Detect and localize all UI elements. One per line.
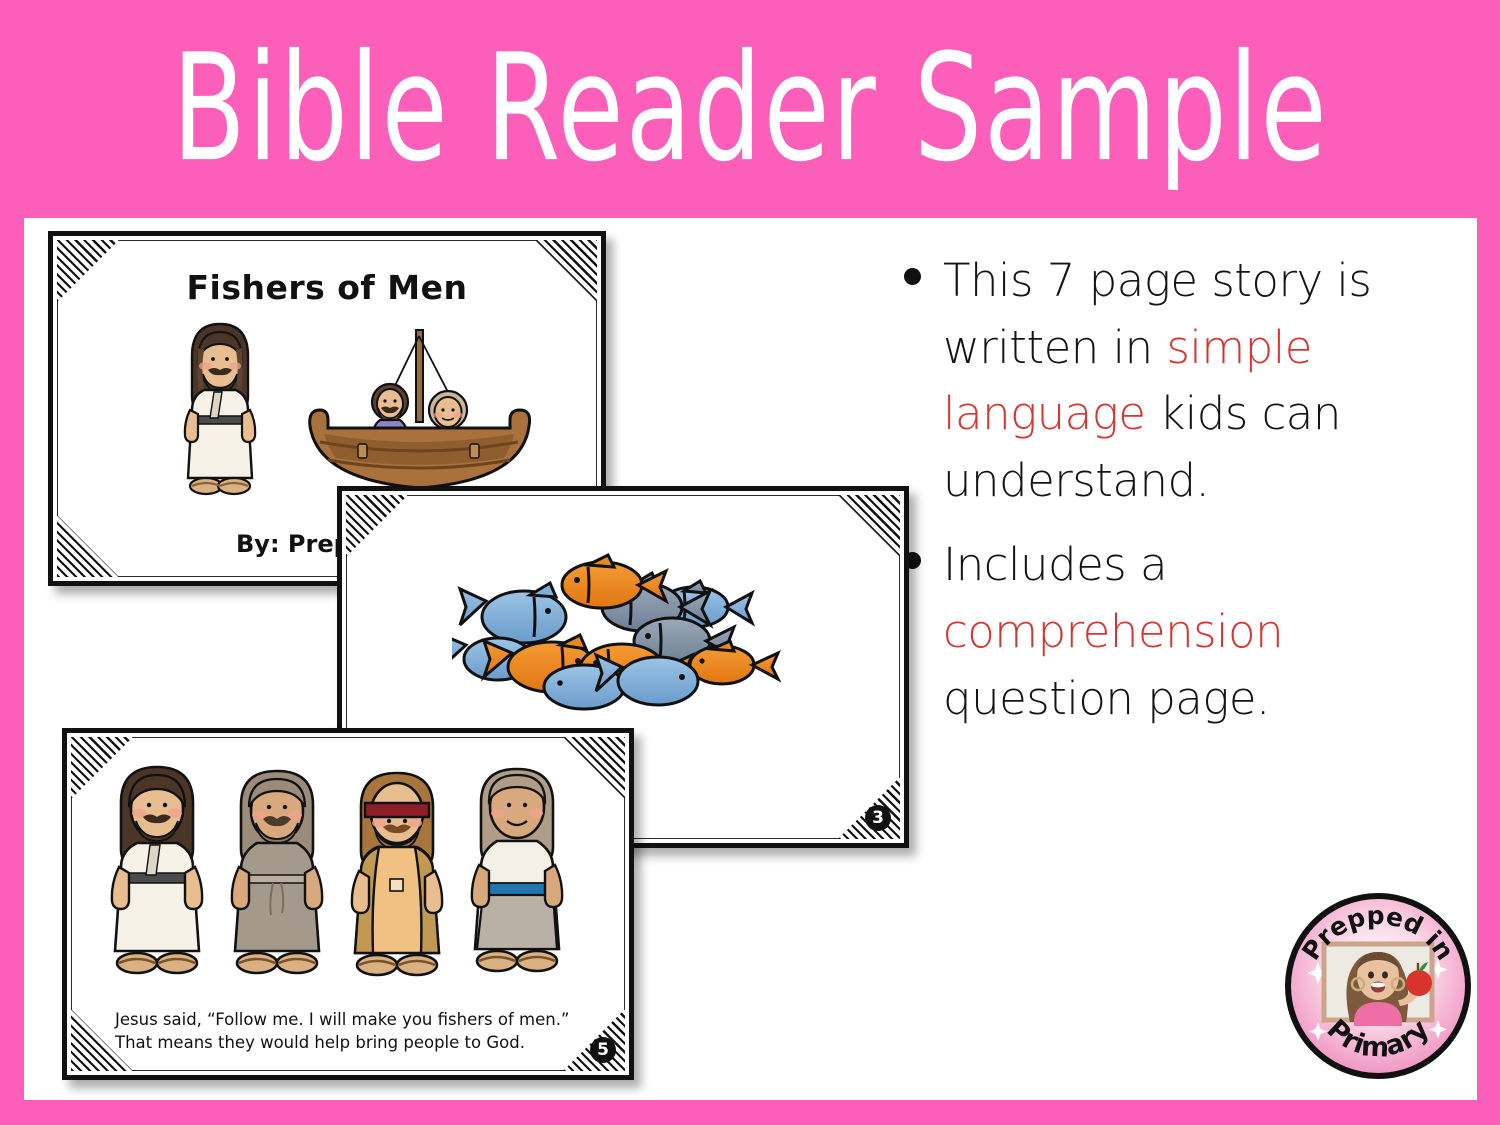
- feature-bullet-list: This 7 page story is written in simple l…: [904, 248, 1449, 750]
- header-banner: Bible Reader Sample: [0, 0, 1500, 218]
- cover-title: Fishers of Men: [53, 268, 601, 307]
- four-disciples-illustration: [97, 755, 597, 995]
- bullet-text: This 7 page story is written in simple l…: [943, 248, 1449, 514]
- slide-caption-line-1: Jesus said, “Follow me. I will make you …: [115, 1009, 583, 1032]
- list-item: This 7 page story is written in simple l…: [904, 248, 1449, 514]
- slide-caption: Jesus said, “Follow me. I will make you …: [115, 1009, 583, 1055]
- slide-card-disciples[interactable]: 5: [62, 728, 634, 1080]
- bullet-segment-highlight: comprehension: [943, 605, 1283, 658]
- bullet-segment: question page.: [943, 672, 1270, 725]
- slide-caption-line-2: That means they would help bring people …: [115, 1032, 583, 1055]
- brand-logo[interactable]: Prepped in Primary: [1282, 890, 1474, 1082]
- page-number-badge: 5: [590, 1037, 616, 1063]
- school-of-fish-illustration: [452, 533, 802, 723]
- page-number-badge: 3: [865, 805, 891, 831]
- bullet-dot-icon: [904, 268, 921, 285]
- bullet-text: Includes a comprehension question page.: [943, 532, 1449, 732]
- jesus-and-boat-illustration: [148, 318, 568, 513]
- content-panel: Fishers of Men: [24, 218, 1477, 1100]
- bullet-segment: Includes a: [943, 538, 1167, 591]
- list-item: Includes a comprehension question page.: [904, 532, 1449, 732]
- page-title: Bible Reader Sample: [172, 23, 1328, 195]
